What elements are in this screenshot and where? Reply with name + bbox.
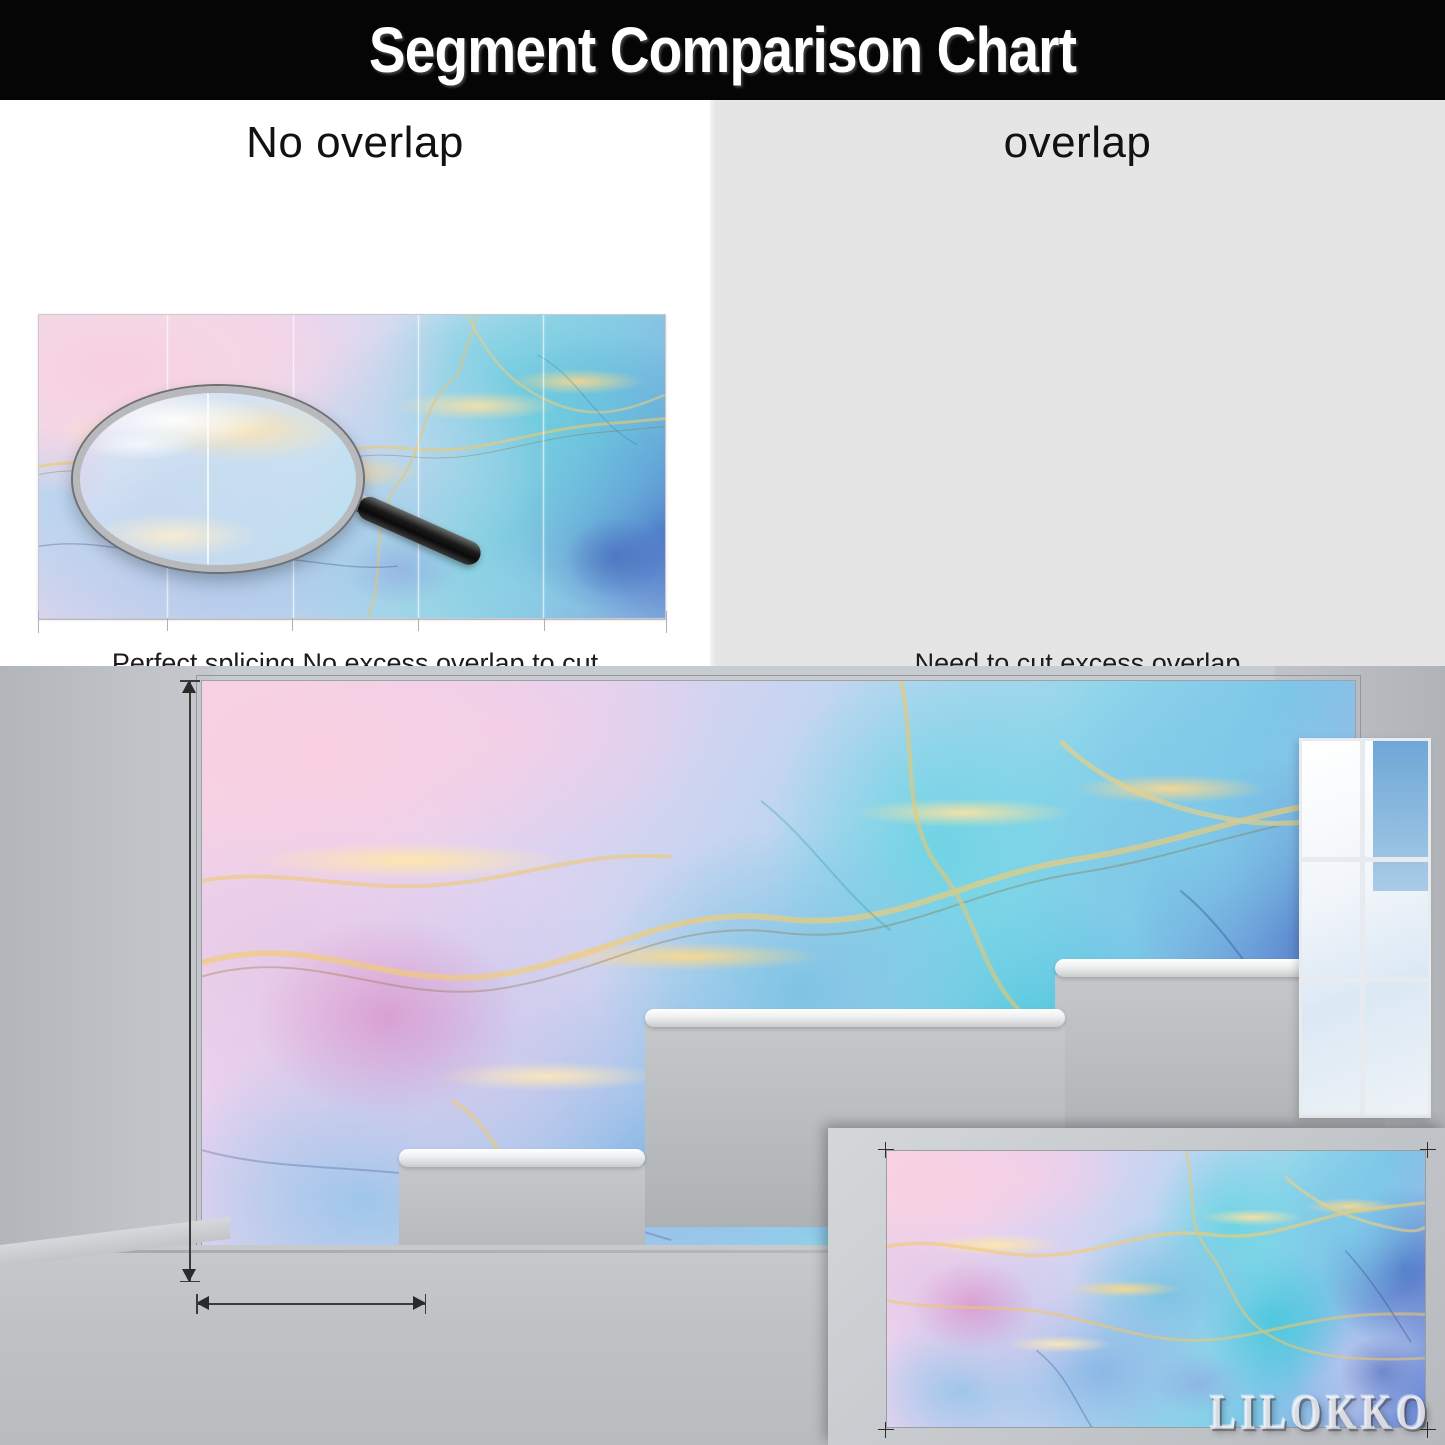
height-dimension-arrow	[180, 680, 200, 1282]
corner-marker	[878, 1422, 894, 1438]
page-title: Segment Comparison Chart	[101, 0, 1344, 100]
closeup-inset-card: LILOKKO	[828, 1128, 1445, 1445]
corner-marker	[878, 1142, 894, 1158]
corner-marker	[1420, 1142, 1436, 1158]
segment-comparison-page: Segment Comparison Chart No overlap	[0, 0, 1445, 1445]
segment-seam	[418, 315, 419, 618]
watermark-lilokko-inset: LILOKKO	[1210, 1382, 1431, 1441]
window-icon	[1299, 738, 1431, 1118]
magnifying-glass-icon	[73, 386, 363, 572]
segment-ruler-no-overlap	[38, 619, 666, 635]
panel-heading-no-overlap: No overlap	[0, 118, 710, 168]
panel-heading-overlap: overlap	[710, 118, 1445, 168]
title-bar: Segment Comparison Chart	[0, 0, 1445, 100]
panel-no-overlap: No overlap	[0, 100, 710, 666]
segment-seam	[543, 315, 544, 618]
comparison-section: No overlap	[0, 100, 1445, 666]
width-dimension-arrow	[196, 1294, 426, 1314]
panel-overlap: overlap	[710, 100, 1445, 666]
